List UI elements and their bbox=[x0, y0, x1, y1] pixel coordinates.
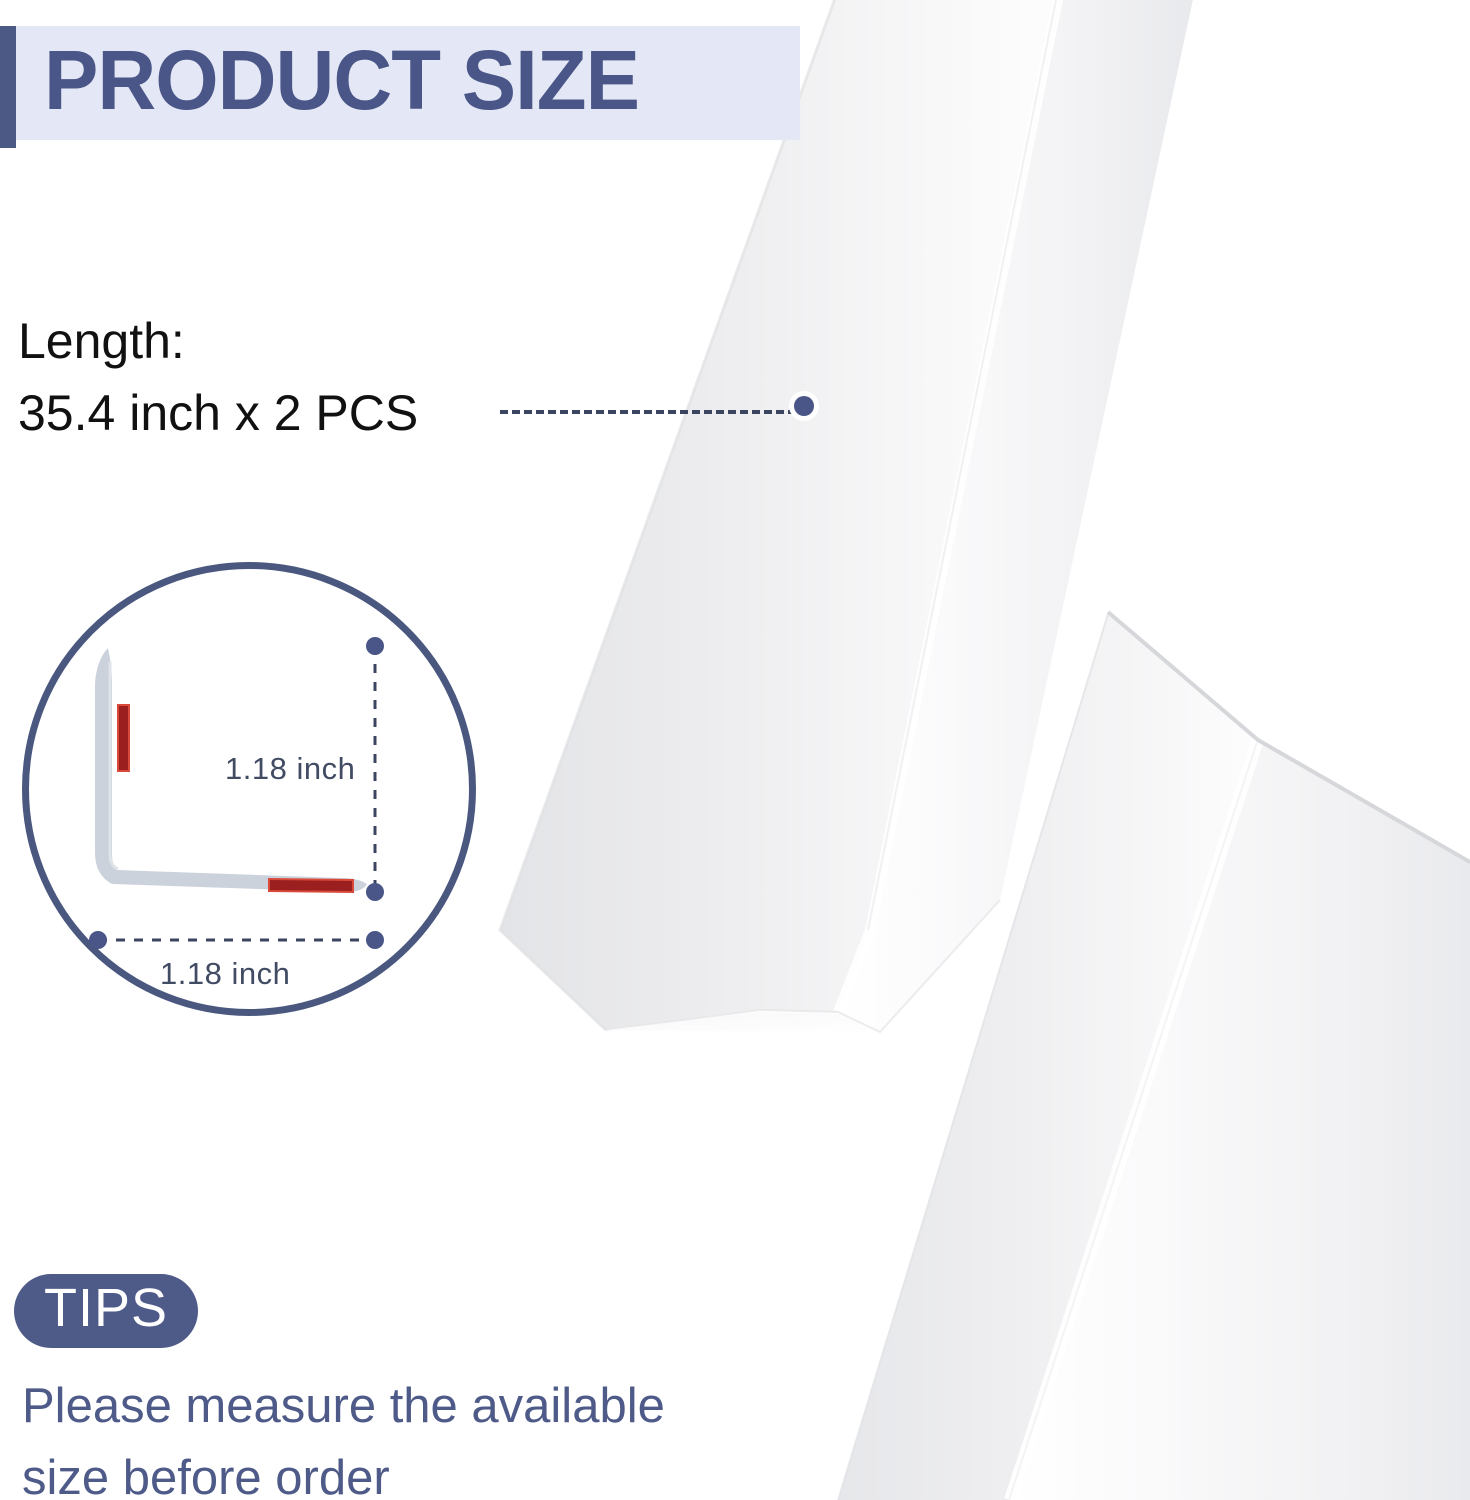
length-spec: Length: 35.4 inch x 2 PCS bbox=[18, 305, 478, 449]
product-size-infographic: PRODUCT SIZE Length: 35.4 inch x 2 PCS 1… bbox=[0, 0, 1470, 1500]
dimension-endpoint-right bbox=[366, 931, 384, 949]
dimension-label-vertical: 1.18 inch bbox=[225, 751, 355, 787]
length-value: 35.4 inch x 2 PCS bbox=[18, 377, 478, 449]
cross-section-diagram bbox=[22, 562, 476, 1016]
dimension-endpoint-left bbox=[89, 931, 107, 949]
length-label: Length: bbox=[18, 305, 478, 377]
tips-line-1: Please measure the available bbox=[22, 1370, 812, 1442]
adhesive-strip-vertical bbox=[118, 705, 129, 771]
adhesive-strip-horizontal bbox=[269, 879, 353, 892]
header-accent-bar bbox=[0, 26, 16, 148]
page-title: PRODUCT SIZE bbox=[44, 26, 639, 140]
corner-guard-strip-back bbox=[838, 612, 1470, 1500]
callout-leader-line bbox=[500, 410, 796, 414]
tips-line-2: size before order bbox=[22, 1442, 812, 1500]
callout-dot bbox=[794, 396, 814, 416]
corner-guard-strip-front bbox=[500, 0, 1195, 1033]
dimension-label-horizontal: 1.18 inch bbox=[160, 956, 290, 992]
dimension-endpoint-top bbox=[366, 637, 384, 655]
tips-body: Please measure the available size before… bbox=[22, 1370, 812, 1500]
tips-badge: TIPS bbox=[14, 1274, 198, 1348]
dimension-endpoint-mid bbox=[366, 883, 384, 901]
